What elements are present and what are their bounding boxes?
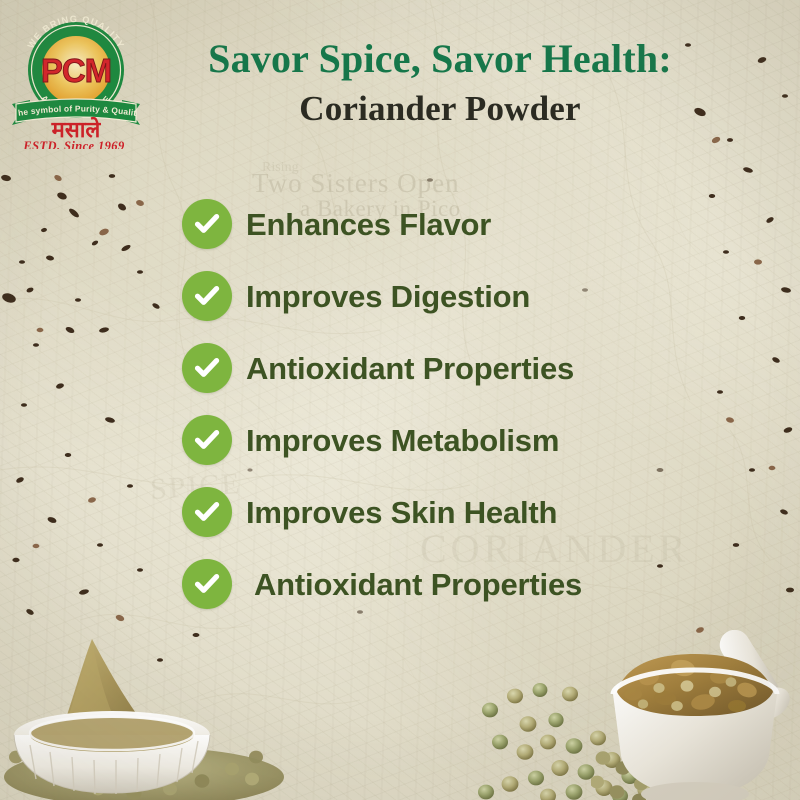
check-circle-icon — [182, 271, 232, 321]
logo-established-text: ESTD. Since 1969 — [22, 139, 125, 149]
mortar-and-pestle — [591, 606, 800, 800]
list-item-label: Antioxidant Properties — [246, 353, 574, 384]
list-item: Antioxidant Properties — [182, 332, 782, 404]
bowl-of-coriander-powder — [0, 619, 284, 800]
list-item: Improves Digestion — [182, 260, 782, 332]
check-circle-icon — [182, 415, 232, 465]
list-item-label: Enhances Flavor — [246, 209, 491, 240]
check-circle-icon — [182, 343, 232, 393]
check-circle-icon — [182, 199, 232, 249]
pcm-logo-svg: WE BRING QUALITY AT YOUR HOME PCM The sy… — [8, 4, 158, 149]
poster-canvas: Rising Two Sisters Open a Bakery in Pico… — [0, 0, 800, 800]
list-item: Enhances Flavor — [182, 188, 782, 260]
page-title: Savor Spice, Savor Health: — [160, 38, 720, 80]
list-item-label: Antioxidant Properties — [254, 569, 582, 600]
list-item-label: Improves Skin Health — [246, 497, 557, 528]
check-circle-icon — [182, 487, 232, 537]
brand-logo: WE BRING QUALITY AT YOUR HOME PCM The sy… — [8, 4, 158, 149]
logo-monogram: PCM — [41, 52, 111, 89]
list-item-label: Improves Digestion — [246, 281, 530, 312]
title-block: Savor Spice, Savor Health: Coriander Pow… — [160, 38, 720, 129]
list-item: Improves Metabolism — [182, 404, 782, 476]
check-circle-icon — [182, 559, 232, 609]
list-item-label: Improves Metabolism — [246, 425, 559, 456]
page-subtitle: Coriander Powder — [160, 89, 720, 128]
benefits-list: Enhances Flavor Improves Digestion Antio… — [182, 188, 782, 620]
list-item: Improves Skin Health — [182, 476, 782, 548]
